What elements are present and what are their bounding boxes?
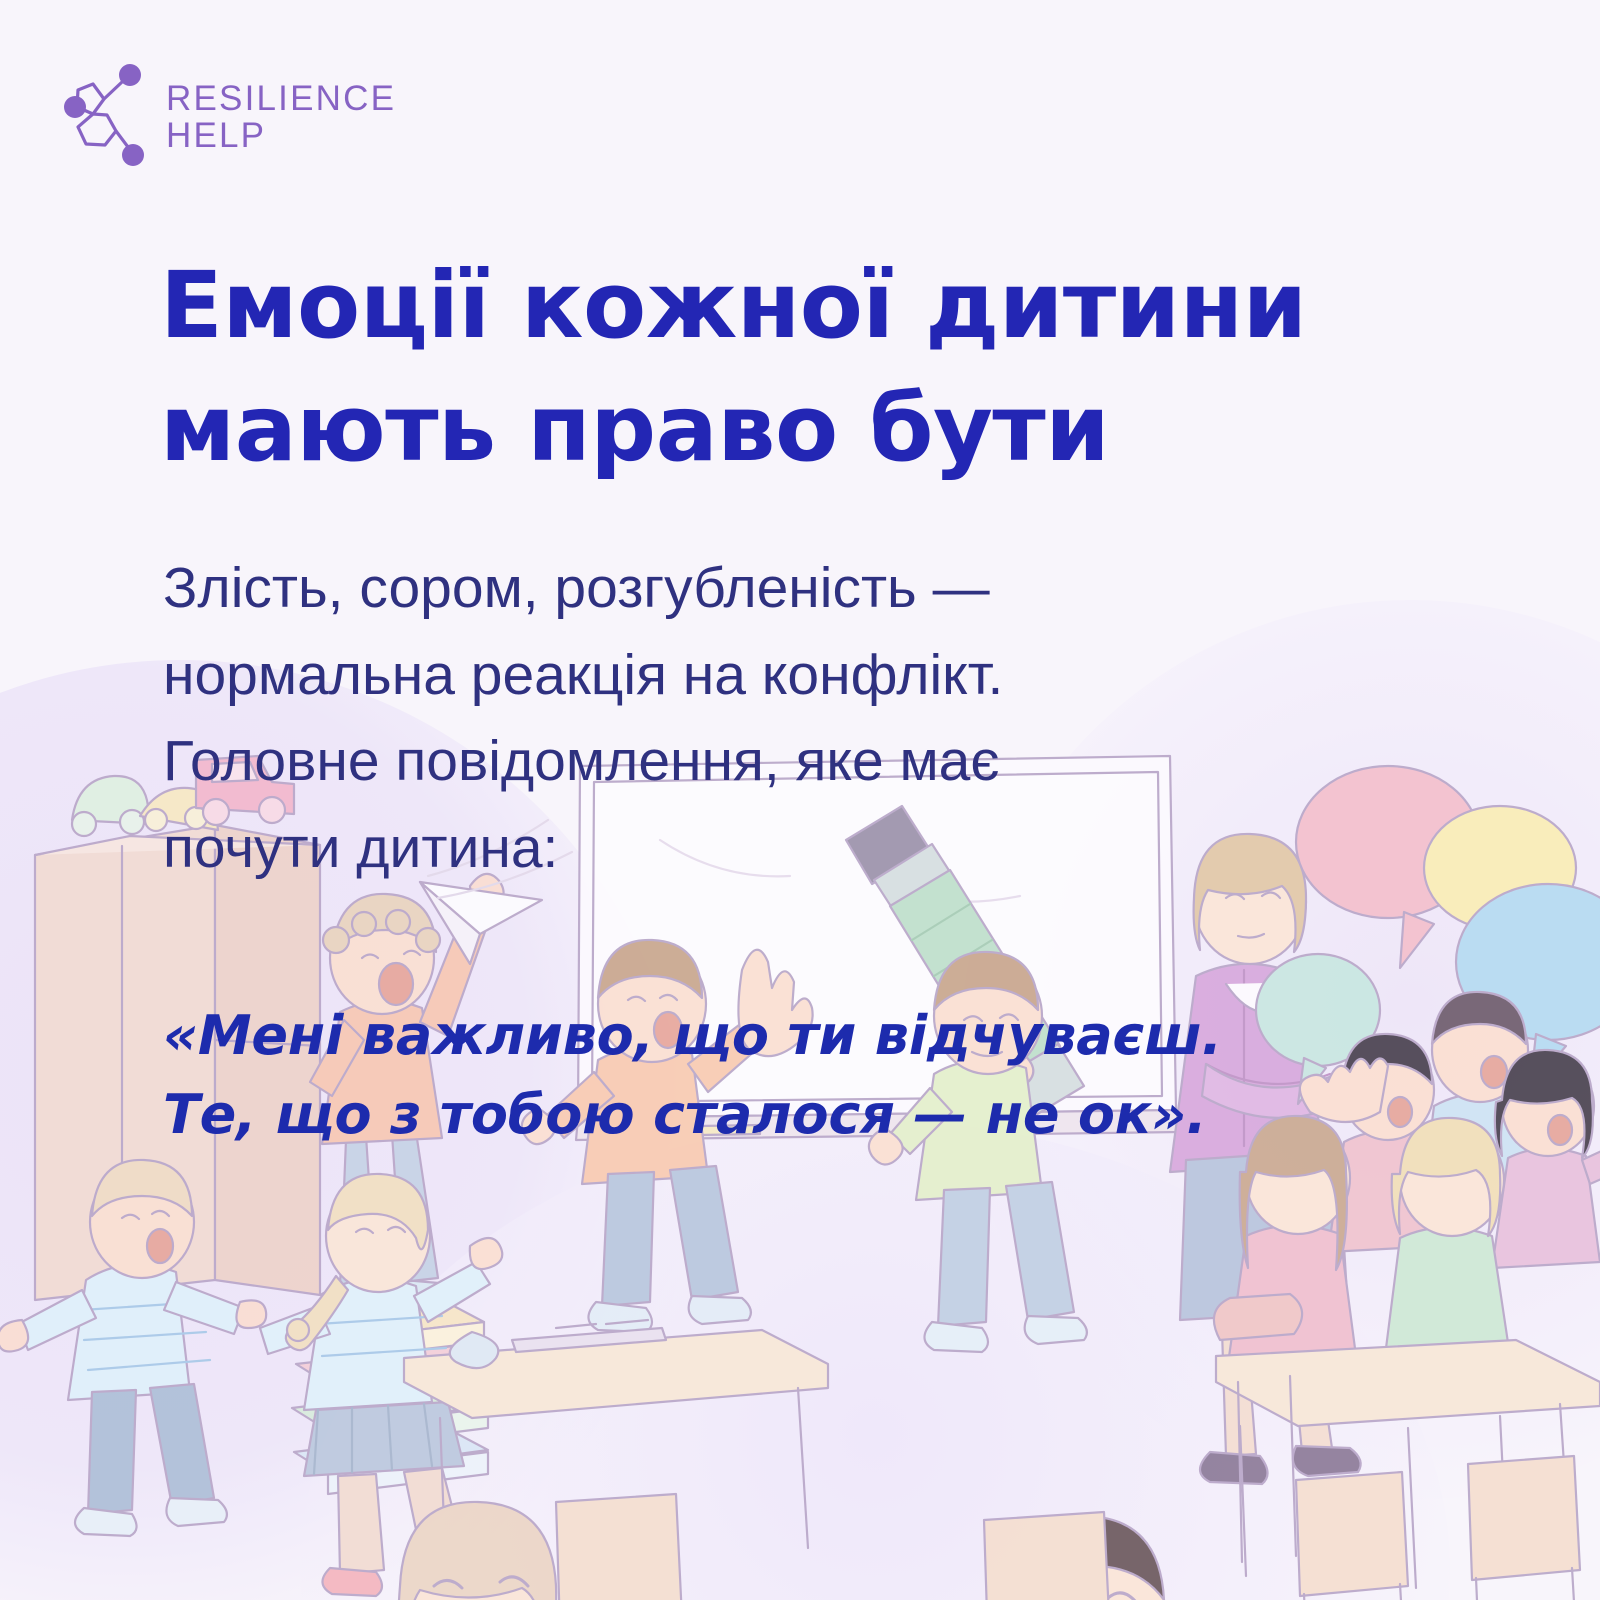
- lede-paragraph: Злість, сором, розгубленість — нормальна…: [163, 545, 1343, 892]
- pull-quote: «Мені важливо, що ти відчуваєш. Те, що з…: [163, 997, 1463, 1155]
- lede-line-2: нормальна реакція на конфлікт.: [163, 632, 1343, 719]
- brand-wordmark: RESILIENCE HELP: [166, 80, 396, 154]
- headline-line-1: Емоції кожної дитини: [160, 244, 1460, 367]
- brand-name-line1: RESILIENCE: [166, 80, 396, 117]
- lede-line-3: Головне повідомлення, яке має: [163, 718, 1343, 805]
- quote-line-1: «Мені важливо, що ти відчуваєш.: [163, 997, 1463, 1076]
- quote-line-2: Те, що з тобою сталося — не ок».: [163, 1076, 1463, 1155]
- chairs-right: [1296, 1456, 1580, 1600]
- boy-with-phone-blue-hoodie: [916, 1512, 1238, 1600]
- molecule-icon: [60, 58, 152, 176]
- brand-name-line2: HELP: [166, 117, 396, 154]
- page-title: Емоції кожної дитини мають право бути: [160, 244, 1460, 491]
- lede-line-4: почути дитина:: [163, 805, 1343, 892]
- poster-canvas: RESILIENCE HELP Емоції кожної дитини маю…: [0, 0, 1600, 1600]
- headline-line-2: мають право бути: [160, 367, 1460, 490]
- lede-line-1: Злість, сором, розгубленість —: [163, 545, 1343, 632]
- brand-logo[interactable]: RESILIENCE HELP: [60, 58, 396, 176]
